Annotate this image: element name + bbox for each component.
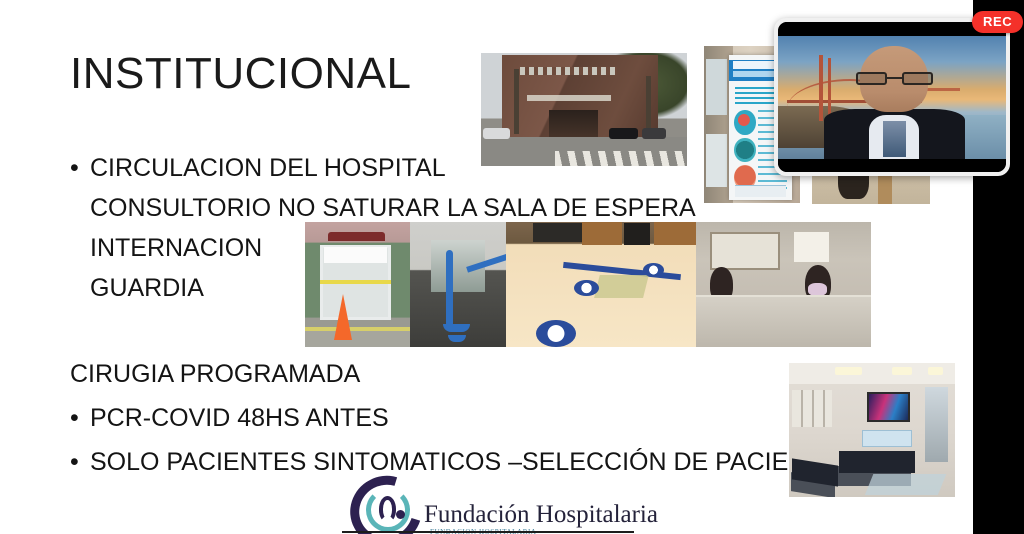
floor-markers-photo xyxy=(506,222,696,347)
reception-staff-photo xyxy=(696,222,871,347)
bullet-list-surgery: CIRUGIA PROGRAMADA PCR-COVID 48HS ANTES … xyxy=(70,352,855,484)
stethoscope-icon xyxy=(379,496,396,522)
logo-name: Fundación Hospitalaria xyxy=(424,501,658,529)
waiting-room-photo xyxy=(789,363,955,497)
blue-barrier-photo xyxy=(410,222,506,347)
list-item: PCR-COVID 48HS ANTES xyxy=(70,396,855,440)
presenter-video-panel[interactable] xyxy=(774,18,1010,176)
stethoscope-dot-icon xyxy=(396,510,405,519)
organization-logo: Fundación Hospitalaria FUNDACION HOSPITA… xyxy=(338,476,638,534)
status-badge: REC xyxy=(972,11,1023,33)
photo-strip xyxy=(305,222,871,347)
entrance-cone-photo xyxy=(305,222,410,347)
list-item: CIRUGIA PROGRAMADA xyxy=(70,352,855,396)
video-feed[interactable] xyxy=(778,22,1006,172)
page-title: INSTITUCIONAL xyxy=(70,52,411,96)
hospital-exterior-photo xyxy=(481,53,687,166)
logo-divider xyxy=(342,531,634,533)
screen-recording-frame: INSTITUCIONAL CIRCULACION DEL HOSPITAL C… xyxy=(0,0,1024,534)
glasses-icon xyxy=(856,72,934,86)
